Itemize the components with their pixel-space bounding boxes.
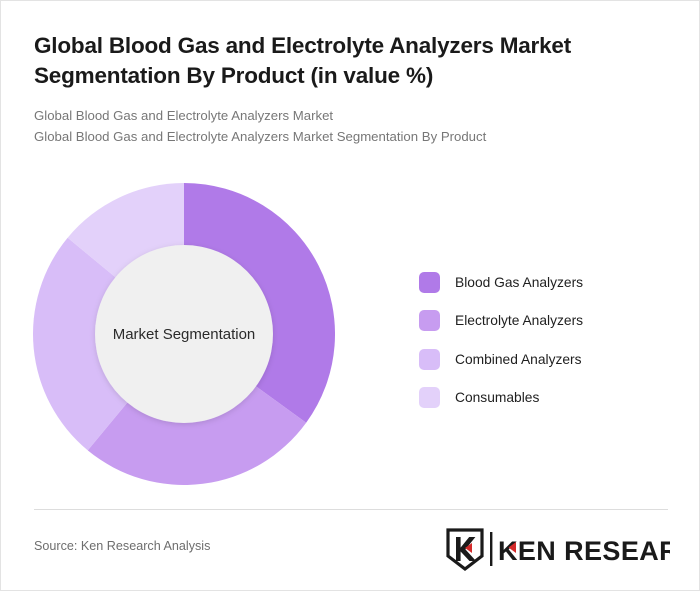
- donut-chart: Market Segmentation: [33, 183, 335, 485]
- legend-item[interactable]: Consumables: [419, 379, 583, 418]
- ken-research-logo: KEN RESEARCH: [442, 526, 670, 572]
- chart-page: Global Blood Gas and Electrolyte Analyze…: [0, 0, 700, 591]
- legend-label: Consumables: [455, 390, 539, 405]
- donut-svg: [33, 183, 335, 485]
- legend-label: Combined Analyzers: [455, 352, 582, 367]
- logo-svg: KEN RESEARCH: [442, 526, 670, 572]
- donut-hole: [95, 245, 273, 423]
- chart-header: Global Blood Gas and Electrolyte Analyze…: [34, 31, 674, 147]
- logo-separator-bar: [490, 532, 492, 566]
- legend-swatch-icon: [419, 272, 440, 293]
- chart-footer: Source: Ken Research Analysis KEN RESEAR…: [1, 509, 700, 591]
- chart-legend: Blood Gas AnalyzersElectrolyte Analyzers…: [419, 263, 583, 417]
- legend-label: Electrolyte Analyzers: [455, 313, 583, 328]
- legend-swatch-icon: [419, 349, 440, 370]
- logo-wordmark: KEN RESEARCH: [498, 536, 670, 566]
- legend-item[interactable]: Combined Analyzers: [419, 340, 583, 379]
- legend-swatch-icon: [419, 387, 440, 408]
- legend-item[interactable]: Blood Gas Analyzers: [419, 263, 583, 302]
- chart-body: Market Segmentation Blood Gas AnalyzersE…: [1, 171, 700, 501]
- legend-swatch-icon: [419, 310, 440, 331]
- logo-wordmark-text: KEN RESEARCH: [498, 536, 670, 566]
- subtitle-segmentation: Global Blood Gas and Electrolyte Analyze…: [34, 127, 674, 147]
- subtitle-market: Global Blood Gas and Electrolyte Analyze…: [34, 106, 674, 126]
- logo-shield-mark: [448, 530, 482, 569]
- subtitle-group: Global Blood Gas and Electrolyte Analyze…: [34, 106, 674, 147]
- legend-label: Blood Gas Analyzers: [455, 275, 583, 290]
- page-title: Global Blood Gas and Electrolyte Analyze…: [34, 31, 674, 90]
- legend-item[interactable]: Electrolyte Analyzers: [419, 302, 583, 341]
- source-note: Source: Ken Research Analysis: [34, 539, 210, 553]
